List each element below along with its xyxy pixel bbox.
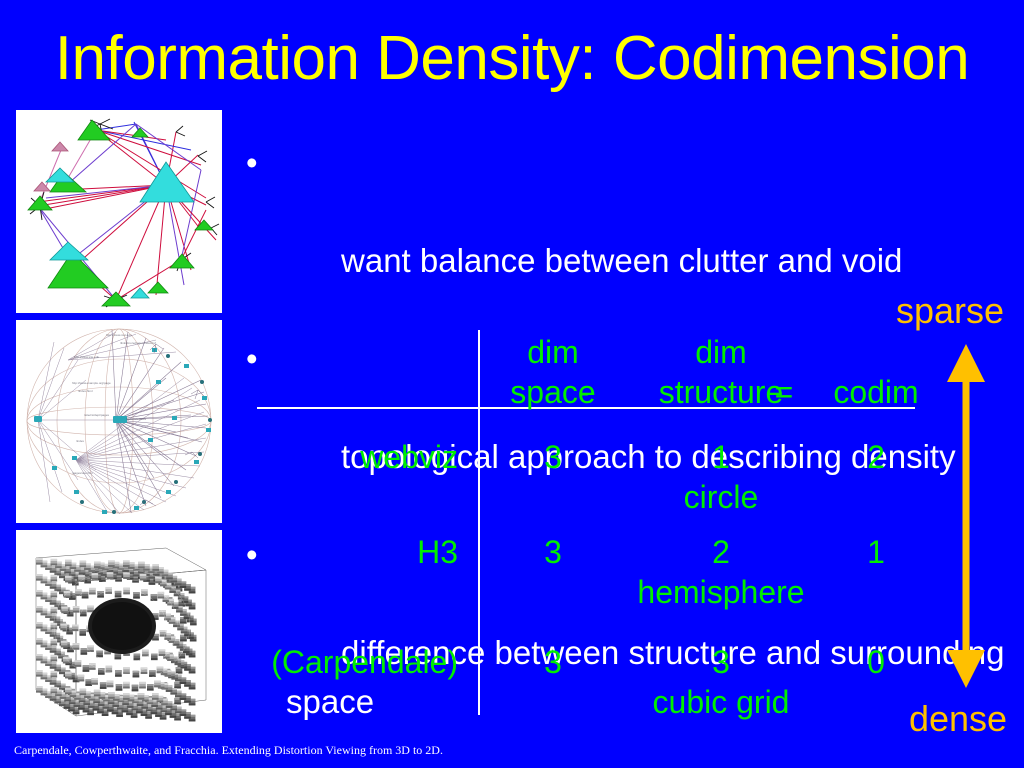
source-citation: Carpendale, Cowperthwaite, and Fracchia.… [14, 743, 443, 757]
svg-text:/index.html: /index.html [78, 389, 93, 393]
webviz-graph-svg [16, 110, 222, 313]
row-dim-struct: 3 [596, 642, 846, 682]
row-dim-space: 3 [493, 437, 613, 477]
row-label: webviz [158, 437, 458, 477]
header-dim-space-line1: dim [493, 332, 613, 372]
row-structure-name: cubic grid [596, 682, 846, 722]
header-dim-struct-line1: dim [596, 332, 846, 372]
bullet-marker-icon: • [246, 138, 258, 187]
axis-label-sparse: sparse [878, 290, 1022, 332]
svg-text:/links/more/pages/index/ref: /links/more/pages/index/ref [120, 341, 156, 345]
svg-text:/www/site/docs: /www/site/docs [126, 417, 147, 421]
axis-label-dense: dense [886, 698, 1024, 740]
row-label: (Carpendale) [158, 642, 458, 682]
slide-canvas: Information Density: Codimension [0, 0, 1024, 768]
svg-text:http://www.example.org/page: http://www.example.org/page [72, 381, 111, 385]
figure-webviz-network-graph [16, 110, 222, 313]
row-dim-space: 3 [493, 642, 613, 682]
codimension-table: dim dim space - structure = codim webviz… [236, 320, 936, 720]
header-structure: structure [596, 372, 846, 412]
svg-text:/pages/one.htm: /pages/one.htm [72, 471, 93, 475]
row-dim-struct: 2 [596, 532, 846, 572]
density-axis: sparse dense [880, 290, 1024, 740]
svg-text:/site/cs/dept/pages: /site/cs/dept/pages [84, 413, 110, 417]
figure-h3-hyperbolic-sphere: http://www.site.edu http://www.example.o… [16, 320, 222, 523]
row-label: H3 [158, 532, 458, 572]
h3-sphere-svg: http://www.site.edu http://www.example.o… [16, 320, 222, 523]
row-dim-space: 3 [493, 532, 613, 572]
row-structure-name: hemisphere [596, 572, 846, 612]
svg-text:http://www.root.edu: http://www.root.edu [106, 333, 132, 337]
page-title: Information Density: Codimension [0, 26, 1024, 92]
bullet-text: want balance between clutter and void [341, 242, 902, 279]
svg-text:http://www.site.edu: http://www.site.edu [74, 355, 100, 359]
row-dim-struct: 1 [596, 437, 846, 477]
row-structure-name: circle [596, 477, 846, 517]
operator-equals: = [764, 372, 804, 412]
double-headed-arrow-icon [880, 338, 1024, 694]
table-vertical-divider [478, 330, 480, 715]
svg-text:/index: /index [76, 439, 85, 443]
